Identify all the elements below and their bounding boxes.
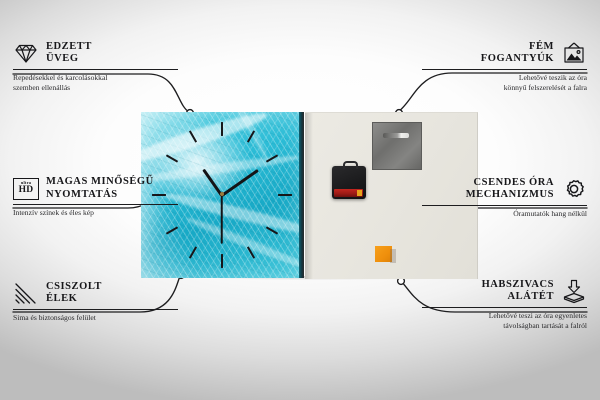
feature-description: Intenzív színek és éles kép [13, 208, 178, 218]
polished-edges-icon [13, 280, 39, 306]
metal-hanger [372, 122, 422, 170]
hour-marker [247, 130, 255, 142]
glass-edge [299, 112, 304, 278]
feature-edzett-uveg[interactable]: EDZETTÜVEG Repedésekkel és karcolásokkal… [13, 40, 178, 92]
feature-description: Lehetővé teszi az óra egyenletes távolsá… [422, 311, 587, 330]
feature-title: EDZETTÜVEG [46, 41, 92, 66]
feature-description: Repedésekkel és karcolásokkal szemben el… [13, 73, 178, 92]
mechanism-tab [343, 161, 358, 169]
hanger-slot [383, 133, 409, 138]
ultra-hd-icon: ultra HD [13, 178, 39, 200]
battery-terminal [357, 190, 362, 196]
feature-title: CSENDES ÓRAMECHANIZMUS [466, 177, 554, 202]
feature-description: Sima és biztonságos felület [13, 313, 178, 323]
second-hand [221, 196, 223, 244]
hour-marker [278, 194, 292, 196]
feature-magas-minosegu-nyomtatas[interactable]: ultra HD MAGAS MINŐSÉGŰNYOMTATÁS Intenzí… [13, 176, 178, 218]
panel-inner-shadow [305, 113, 313, 279]
divider [13, 204, 178, 205]
diamond-icon [13, 40, 39, 66]
hour-marker [189, 130, 197, 142]
wall-mount-frame-icon [561, 40, 587, 66]
feature-csendes-ora-mechanizmus[interactable]: CSENDES ÓRAMECHANIZMUS Óramutatók hang n… [422, 176, 587, 219]
hour-marker [189, 246, 197, 258]
hour-marker [266, 154, 278, 162]
clock-mechanism [332, 166, 366, 199]
hour-marker [166, 154, 178, 162]
divider [13, 69, 178, 70]
hour-marker [266, 226, 278, 234]
infographic-canvas: EDZETTÜVEG Repedésekkel és karcolásokkal… [0, 0, 600, 400]
foam-pad-icon [561, 278, 587, 304]
hour-marker [166, 226, 178, 234]
feature-title: FÉMFOGANTYÚK [481, 41, 554, 66]
feature-fem-fogantyuk[interactable]: FÉMFOGANTYÚK Lehetővé teszik az óra könn… [422, 40, 587, 92]
minute-hand [221, 169, 259, 197]
feature-title: CSISZOLTÉLEK [46, 281, 102, 306]
hour-marker [221, 254, 223, 268]
divider [422, 205, 587, 206]
divider [422, 307, 587, 308]
feature-description: Óramutatók hang nélkül [422, 209, 587, 219]
foam-pad-shadow [390, 249, 396, 263]
divider [422, 69, 587, 70]
feature-title: HABSZIVACSALÁTÉT [482, 279, 554, 304]
divider [13, 309, 178, 310]
feature-title: MAGAS MINŐSÉGŰNYOMTATÁS [46, 176, 154, 201]
hour-marker [221, 122, 223, 136]
hour-marker [247, 246, 255, 258]
gear-icon [561, 176, 587, 202]
feature-csiszolt-elek[interactable]: CSISZOLTÉLEK Sima és biztonságos felület [13, 280, 178, 323]
feature-description: Lehetővé teszik az óra könnyű felszerelé… [422, 73, 587, 92]
clock-hub [220, 192, 224, 196]
battery [334, 189, 363, 197]
ultra-hd-icon-main: HD [19, 186, 34, 196]
feature-habszivacs-alatet[interactable]: HABSZIVACSALÁTÉT Lehetővé teszi az óra e… [422, 278, 587, 330]
